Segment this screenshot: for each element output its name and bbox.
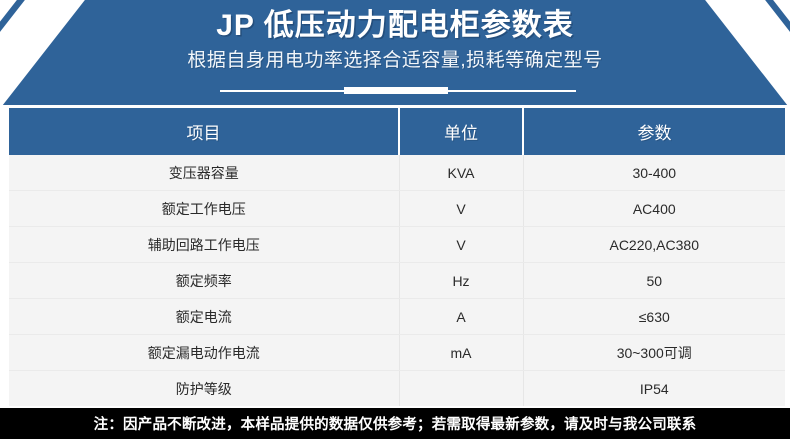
cell-parameter: AC400	[523, 191, 785, 227]
table-row: 辅助回路工作电压 V AC220,AC380	[9, 227, 785, 263]
cell-parameter: 30-400	[523, 155, 785, 191]
cell-item: 额定漏电动作电流	[9, 335, 399, 371]
column-header-parameter: 参数	[523, 108, 785, 155]
page-title: JP 低压动力配电柜参数表	[216, 7, 574, 45]
cell-unit: V	[399, 191, 523, 227]
cell-unit	[399, 371, 523, 407]
column-header-unit: 单位	[399, 108, 523, 155]
table-row: 额定漏电动作电流 mA 30~300可调	[9, 335, 785, 371]
page-subtitle: 根据自身用电功率选择合适容量,损耗等确定型号	[187, 50, 602, 73]
table-row: 额定电流 A ≤630	[9, 299, 785, 335]
cell-parameter: IP54	[523, 371, 785, 407]
cell-parameter: ≤630	[523, 299, 785, 335]
specification-table: 项目 单位 参数 变压器容量 KVA 30-400 额定工作电压 V AC400…	[9, 108, 785, 406]
cell-parameter: AC220,AC380	[523, 227, 785, 263]
cell-item: 额定电流	[9, 299, 399, 335]
table-body: 变压器容量 KVA 30-400 额定工作电压 V AC400 辅助回路工作电压…	[9, 155, 785, 406]
cell-unit: mA	[399, 335, 523, 371]
parameter-spec-sheet: JP 低压动力配电柜参数表 根据自身用电功率选择合适容量,损耗等确定型号 项目 …	[0, 0, 790, 439]
cell-item: 变压器容量	[9, 155, 399, 191]
cell-unit: V	[399, 227, 523, 263]
table-head: 项目 单位 参数	[9, 108, 785, 155]
cell-item: 额定频率	[9, 263, 399, 299]
footer-note-bar: 注：因产品不断改进，本样品提供的数据仅供参考；若需取得最新参数，请及时与我公司联…	[0, 408, 790, 439]
table-header-row: 项目 单位 参数	[9, 108, 785, 155]
footer-note-text: 注：因产品不断改进，本样品提供的数据仅供参考；若需取得最新参数，请及时与我公司联…	[94, 413, 697, 434]
table-row: 变压器容量 KVA 30-400	[9, 155, 785, 191]
cell-unit: KVA	[399, 155, 523, 191]
cell-unit: A	[399, 299, 523, 335]
cell-parameter: 30~300可调	[523, 335, 785, 371]
column-header-item: 项目	[9, 108, 399, 155]
header-banner: JP 低压动力配电柜参数表 根据自身用电功率选择合适容量,损耗等确定型号	[0, 0, 790, 105]
cell-item: 防护等级	[9, 371, 399, 407]
table-row: 额定频率 Hz 50	[9, 263, 785, 299]
divider-line-center-accent	[344, 87, 448, 94]
table-row: 额定工作电压 V AC400	[9, 191, 785, 227]
table-row: 防护等级 IP54	[9, 371, 785, 407]
cell-item: 辅助回路工作电压	[9, 227, 399, 263]
cell-parameter: 50	[523, 263, 785, 299]
cell-unit: Hz	[399, 263, 523, 299]
cell-item: 额定工作电压	[9, 191, 399, 227]
